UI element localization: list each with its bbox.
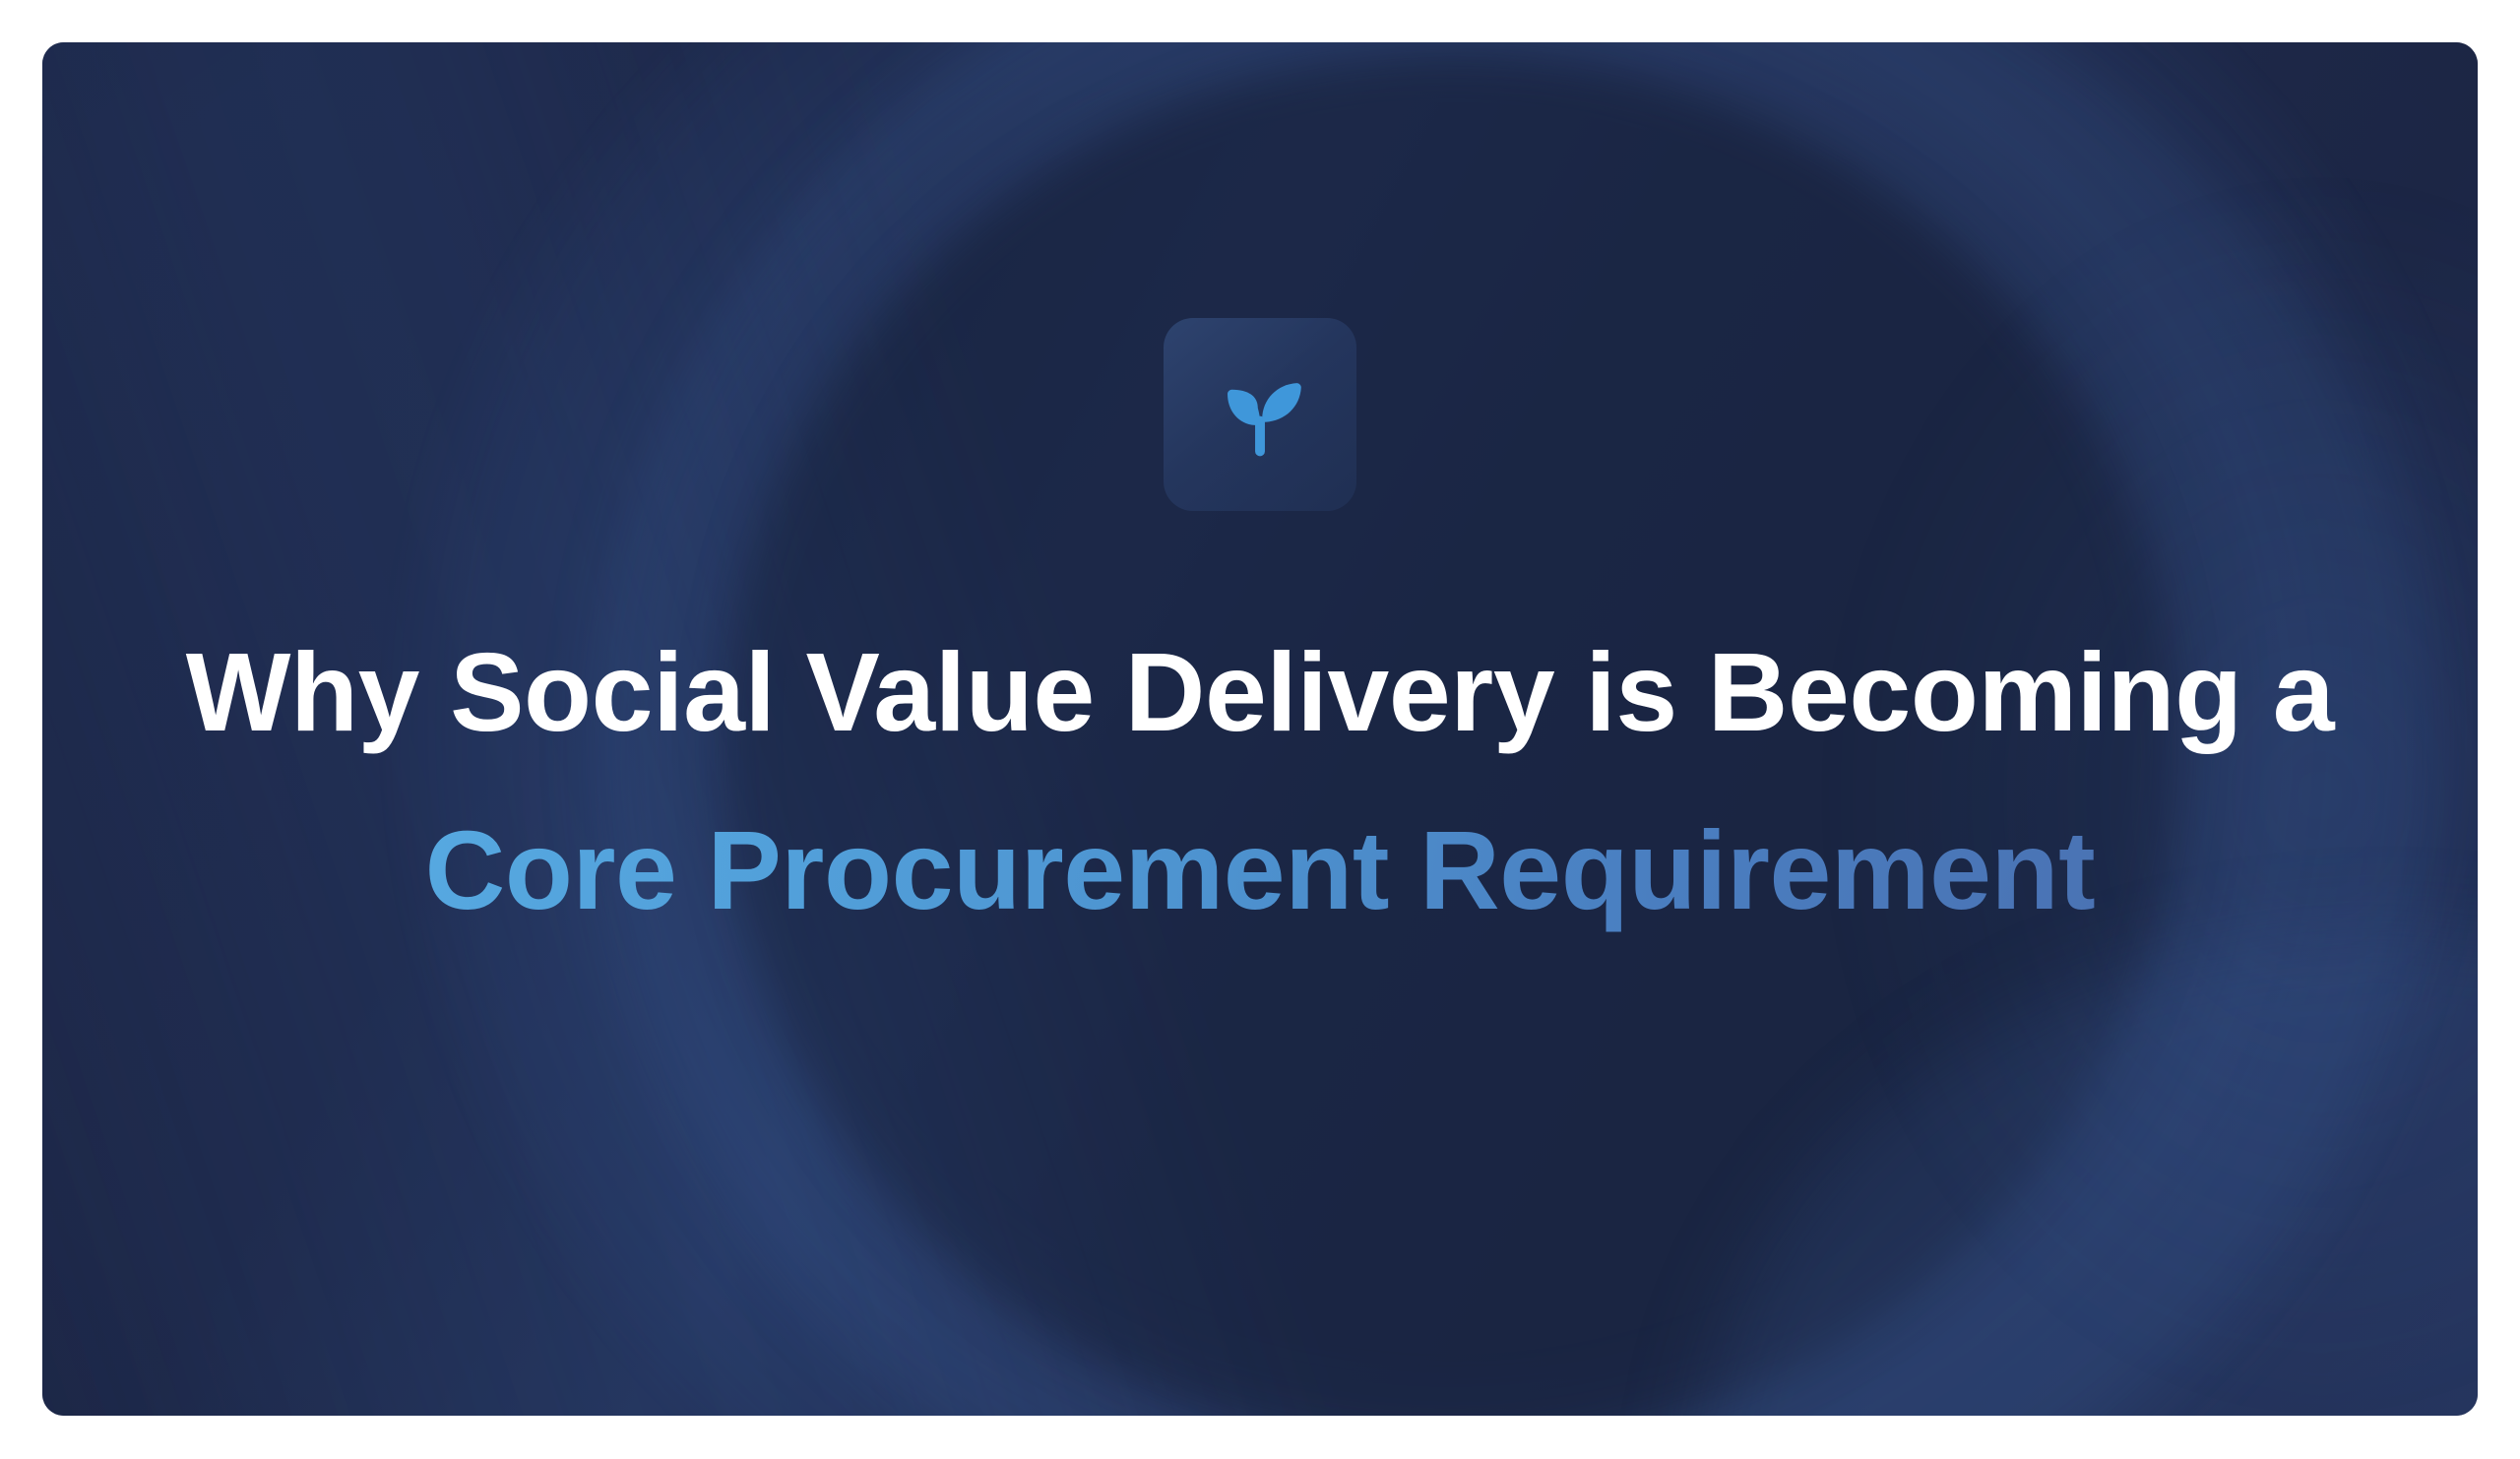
hero-card: Why Social Value Delivery is Becoming a … xyxy=(42,42,2478,1416)
page-title: Why Social Value Delivery is Becoming a … xyxy=(128,603,2392,960)
seedling-icon xyxy=(1206,360,1314,469)
page-root: Why Social Value Delivery is Becoming a … xyxy=(0,0,2520,1459)
headline-accent-text: Core Procurement Requirement xyxy=(425,808,2096,932)
logo-tile xyxy=(1164,318,1356,511)
headline-plain-text: Why Social Value Delivery is Becoming a xyxy=(186,630,2335,754)
hero-content: Why Social Value Delivery is Becoming a … xyxy=(42,42,2478,1416)
